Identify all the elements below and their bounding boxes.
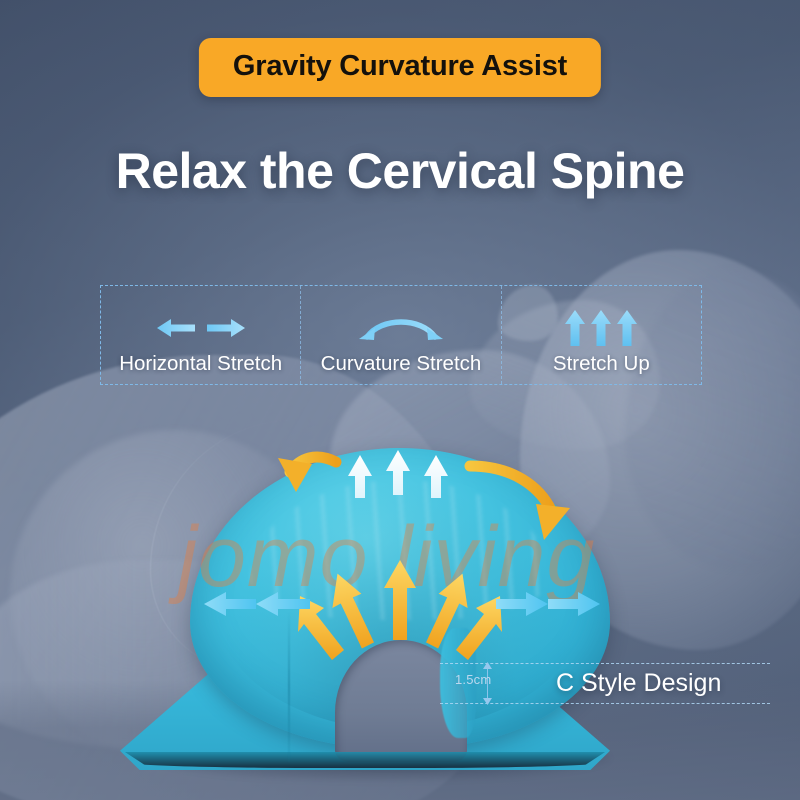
pillow-texture <box>250 480 550 620</box>
human-body-silhouette <box>0 355 500 800</box>
pillow-drop-shadow <box>150 735 610 781</box>
pillow-inner-shade <box>215 480 585 730</box>
feature-label: Stretch Up <box>553 352 650 376</box>
pillow-c-cutout <box>335 640 467 762</box>
arm-silhouette <box>0 560 340 750</box>
pillow-base <box>120 610 610 770</box>
shoulder-silhouette <box>10 430 340 760</box>
measure-arrow-up-icon <box>483 662 492 671</box>
pillow-seam <box>288 612 290 762</box>
feature-label: Horizontal Stretch <box>119 352 282 376</box>
brand-watermark: jomo living <box>178 508 595 607</box>
pillow-base-rim <box>120 752 610 768</box>
badge-label: Gravity Curvature Assist <box>233 50 567 83</box>
feature-horizontal-stretch: Horizontal Stretch <box>101 286 300 384</box>
triple-up-arrow-icon <box>559 306 643 350</box>
crest-up-arrows-icon <box>348 450 448 498</box>
curved-double-arrow-icon <box>355 306 447 350</box>
page-title: Relax the Cervical Spine <box>0 142 800 200</box>
product-caption: C Style Design <box>556 669 721 698</box>
right-curved-arrow-icon <box>470 466 570 540</box>
measurement-label: 1.5cm <box>455 672 491 687</box>
double-horizontal-arrow-icon <box>155 306 247 350</box>
left-curved-arrow-icon <box>278 457 336 492</box>
feature-strip: Horizontal Stretch Curvature Stretch <box>100 285 702 385</box>
gravity-curvature-badge: Gravity Curvature Assist <box>199 38 601 97</box>
body-contour-line <box>150 420 391 670</box>
feature-stretch-up: Stretch Up <box>501 286 701 384</box>
measure-arrow-down-icon <box>483 696 492 705</box>
floor-plane <box>0 680 800 800</box>
promo-image-canvas: Gravity Curvature Assist Relax the Cervi… <box>0 0 800 800</box>
feature-curvature-stretch: Curvature Stretch <box>300 286 500 384</box>
feature-label: Curvature Stretch <box>321 352 482 376</box>
left-outward-arrows-icon <box>204 592 310 616</box>
right-outward-arrows-icon <box>496 592 600 616</box>
radiating-support-arrows-icon <box>298 560 502 660</box>
